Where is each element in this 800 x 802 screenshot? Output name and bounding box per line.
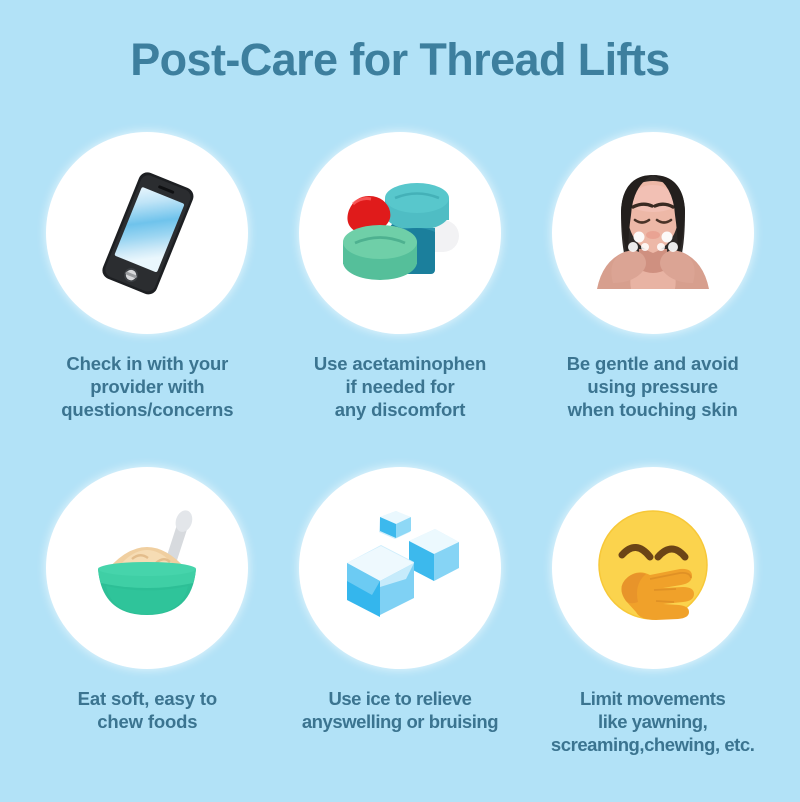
mobile-phone-icon — [72, 158, 222, 308]
tip-card-1: Check in with your provider with questio… — [22, 132, 273, 467]
tip-caption-2: Use acetaminophen if needed for any disc… — [314, 352, 486, 421]
tip-card-2: Use acetaminophen if needed for any disc… — [275, 132, 526, 467]
tip-caption-1: Check in with your provider with questio… — [61, 352, 233, 421]
icon-circle-3 — [552, 132, 754, 334]
page-title: Post-Care for Thread Lifts — [0, 34, 800, 86]
infographic-canvas: Post-Care for Thread Lifts — [0, 0, 800, 800]
icon-circle-4 — [46, 467, 248, 669]
tip-caption-3: Be gentle and avoid using pressure when … — [567, 352, 739, 421]
tip-card-4: Eat soft, easy to chew foods — [22, 467, 273, 802]
ice-cubes-icon — [325, 493, 475, 643]
person-washing-face-icon — [577, 157, 729, 309]
icon-circle-2 — [299, 132, 501, 334]
pills-medication-icon — [325, 158, 475, 308]
tip-caption-6: Limit movements like yawning, screaming,… — [551, 687, 755, 756]
tip-card-6: Limit movements like yawning, screaming,… — [527, 467, 778, 802]
icon-circle-6 — [552, 467, 754, 669]
face-with-hand-over-mouth-icon — [578, 493, 728, 643]
tip-card-3: Be gentle and avoid using pressure when … — [527, 132, 778, 467]
icon-circle-5 — [299, 467, 501, 669]
bowl-of-food-icon — [72, 493, 222, 643]
tips-grid: Check in with your provider with questio… — [22, 132, 778, 802]
icon-circle-1 — [46, 132, 248, 334]
tip-caption-4: Eat soft, easy to chew foods — [78, 687, 217, 733]
tip-caption-5: Use ice to relieve anyswelling or bruisi… — [302, 687, 498, 733]
tip-card-5: Use ice to relieve anyswelling or bruisi… — [275, 467, 526, 802]
